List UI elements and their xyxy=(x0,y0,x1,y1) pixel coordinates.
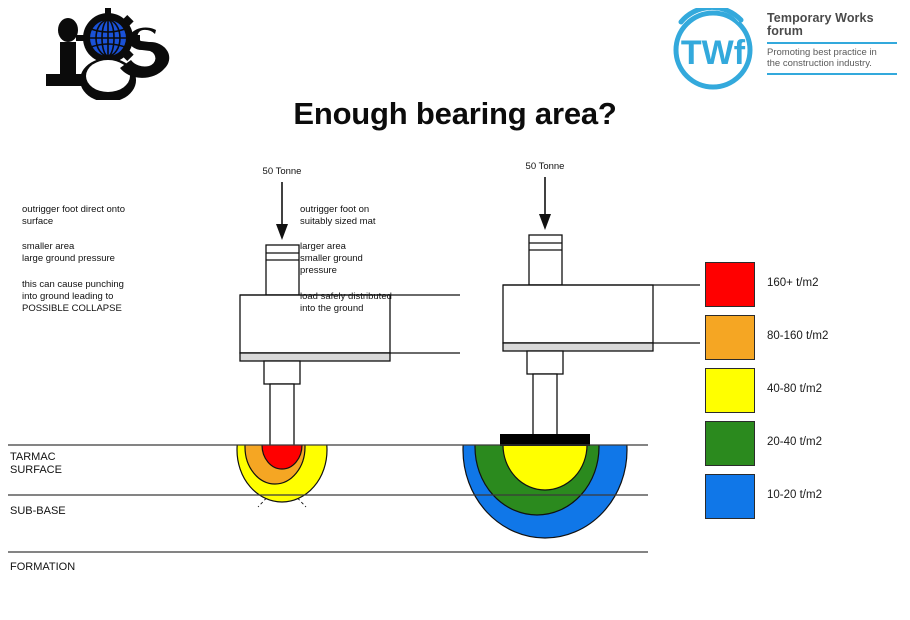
legend-swatch-10-20 xyxy=(705,474,755,519)
left-note-3b: into ground leading to xyxy=(22,291,113,302)
twf-tagline-line1: Promoting best practice in xyxy=(767,47,899,58)
legend-label-80-160: 80-160 t/m2 xyxy=(767,330,828,342)
left-note-1a: outrigger foot direct onto xyxy=(22,204,125,215)
right-load-label: 50 Tonne xyxy=(526,161,565,172)
legend-label-40-80: 40-80 t/m2 xyxy=(767,383,822,395)
layer-label-tarmac: TARMAC xyxy=(10,451,56,463)
left-note-3c: POSSIBLE COLLAPSE xyxy=(22,303,122,314)
twf-mark-label: TWf xyxy=(681,34,746,72)
left-case-notes: outrigger foot direct onto surface small… xyxy=(22,204,125,314)
legend-item-4: 10-20 t/m2 xyxy=(705,474,890,527)
right-beam-box xyxy=(503,285,653,343)
right-note-1a: outrigger foot on xyxy=(300,204,369,215)
legend-item-0: 160+ t/m2 xyxy=(705,262,890,315)
twf-wordmark: Temporary Works forum Promoting best pra… xyxy=(767,12,899,78)
page-title: Enough bearing area? xyxy=(0,96,910,132)
ground-layer-labels: TARMAC SURFACE SUB-BASE FORMATION xyxy=(10,451,75,573)
layer-label-subbase: SUB-BASE xyxy=(10,505,66,517)
twf-title-line2: forum xyxy=(767,25,899,38)
left-beam-flange xyxy=(240,353,390,361)
legend-swatch-80-160 xyxy=(705,315,755,360)
right-note-3a: load safely distributed xyxy=(300,291,392,302)
right-bearing-mat xyxy=(500,434,590,446)
left-note-2b: large ground pressure xyxy=(22,253,115,264)
legend-item-3: 20-40 t/m2 xyxy=(705,421,890,474)
right-case-notes: outrigger foot on suitably sized mat lar… xyxy=(300,204,392,314)
legend-swatch-20-40 xyxy=(705,421,755,466)
bearing-pressure-diagram: 50 Tonne outrigger foot direct onto surf… xyxy=(0,150,700,620)
legend-item-2: 40-80 t/m2 xyxy=(705,368,890,421)
left-note-2a: smaller area xyxy=(22,241,75,252)
left-note-3a: this can cause punching xyxy=(22,279,124,290)
legend-item-1: 80-160 t/m2 xyxy=(705,315,890,368)
twf-mark-graphic: TWf xyxy=(665,8,761,92)
left-note-1b: surface xyxy=(22,216,53,227)
right-note-3b: into the ground xyxy=(300,303,363,314)
legend-swatch-160plus xyxy=(705,262,755,307)
left-load-label: 50 Tonne xyxy=(263,166,302,177)
igs-logo xyxy=(38,8,188,100)
right-beam-flange xyxy=(503,343,653,351)
pressure-legend: 160+ t/m2 80-160 t/m2 40-80 t/m2 20-40 t… xyxy=(705,262,890,527)
right-leg-collar xyxy=(527,351,563,374)
twf-logo: TWf Temporary Works forum Promoting best… xyxy=(665,6,900,94)
twf-divider-bottom xyxy=(767,73,897,75)
pressure-bulbs xyxy=(237,362,627,538)
twf-divider-top xyxy=(767,42,897,44)
right-note-2a: larger area xyxy=(300,241,347,252)
layer-label-surface: SURFACE xyxy=(10,464,62,476)
right-note-2b: smaller ground xyxy=(300,253,363,264)
legend-label-160plus: 160+ t/m2 xyxy=(767,277,818,289)
layer-label-formation: FORMATION xyxy=(10,561,75,573)
twf-circle-mark: TWf xyxy=(665,8,761,92)
igs-logo-graphic xyxy=(38,8,188,100)
right-load-arrow-head xyxy=(539,214,551,230)
right-note-1b: suitably sized mat xyxy=(300,216,376,227)
right-note-2c: pressure xyxy=(300,265,337,276)
left-leg-collar xyxy=(264,361,300,384)
left-load-arrow-head xyxy=(276,224,288,240)
legend-label-20-40: 20-40 t/m2 xyxy=(767,436,822,448)
legend-label-10-20: 10-20 t/m2 xyxy=(767,489,822,501)
twf-tagline-line2: the construction industry. xyxy=(767,58,899,69)
legend-swatch-40-80 xyxy=(705,368,755,413)
